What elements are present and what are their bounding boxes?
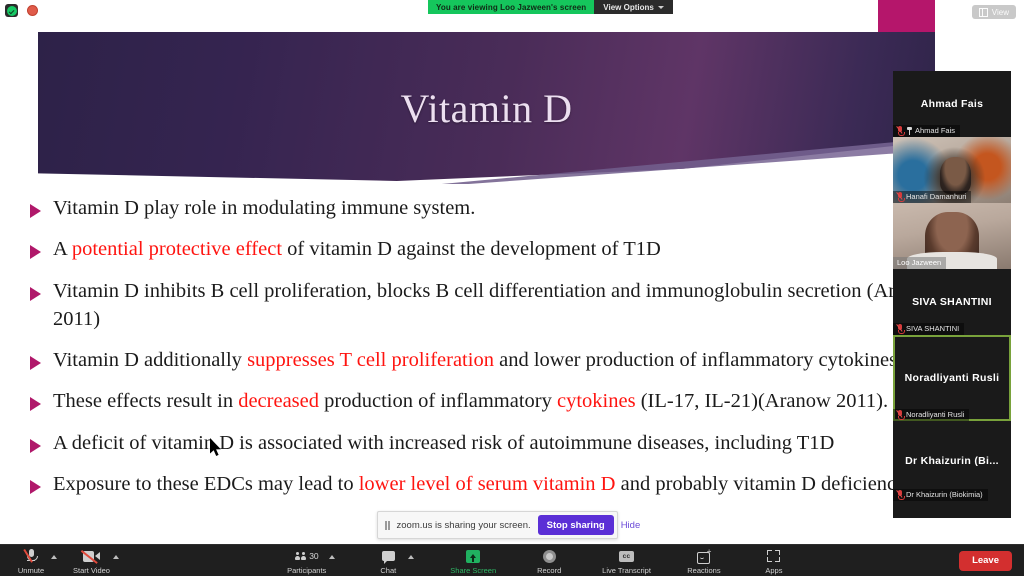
highlighted-phrase: lower level of serum vitamin D: [359, 473, 616, 495]
microphone-muted-icon: [897, 192, 903, 201]
start-video-label: Start Video: [73, 566, 110, 575]
plain-phrase: of vitamin D against the development of …: [282, 238, 661, 260]
toolbar-center-group: 30 Participants Chat Share Screen: [119, 546, 959, 575]
record-dot-icon: [27, 5, 38, 16]
chat-chevron-up-icon[interactable]: [408, 555, 414, 559]
list-item: Exposure to these EDCs may lead to lower…: [30, 470, 960, 498]
participant-label-text: Ahmad Fais: [915, 126, 955, 135]
live-transcript-button[interactable]: cc Live Transcript: [602, 546, 651, 575]
microphone-muted-icon: [897, 410, 903, 419]
participant-display-name: Noradliyanti Rusli: [899, 372, 1006, 384]
bullet-text: Exposure to these EDCs may lead to lower…: [53, 470, 958, 498]
list-item: Vitamin D play role in modulating immune…: [30, 194, 960, 222]
participant-display-name: Dr Khaizurin (Bi...: [899, 455, 1005, 467]
camera-muted-icon: [83, 549, 100, 563]
meeting-toolbar: Unmute Start Video 30: [0, 544, 1024, 576]
participants-button[interactable]: 30 Participants: [287, 546, 326, 575]
plain-phrase: and lower production of inflammatory cyt…: [494, 349, 897, 371]
participant-label-text: Noradliyanti Rusli: [906, 410, 964, 419]
apps-button[interactable]: Apps: [757, 546, 791, 575]
pause-icon: [385, 521, 390, 530]
hide-link[interactable]: Hide: [621, 520, 641, 531]
plain-phrase: These effects result in: [53, 390, 238, 412]
participants-count: 30: [309, 551, 318, 561]
people-icon: 30: [295, 549, 319, 563]
participant-name-label: Hanafi Damanhuri: [893, 191, 971, 204]
chevron-down-icon: [658, 6, 664, 9]
bullet-text: Vitamin D additionally suppresses T cell…: [53, 346, 897, 374]
list-item: These effects result in decreased produc…: [30, 387, 960, 415]
bullet-text: These effects result in decreased produc…: [53, 387, 958, 415]
participants-filmstrip[interactable]: Ahmad Fais Ahmad Fais Hanafi Damanhuri L…: [893, 71, 1011, 518]
start-video-button[interactable]: Start Video: [73, 546, 110, 575]
participants-chevron-up-icon[interactable]: [329, 555, 335, 559]
participants-label: Participants: [287, 566, 326, 575]
apps-icon: [767, 549, 780, 563]
chat-label: Chat: [380, 566, 396, 575]
microphone-muted-icon: [897, 324, 903, 333]
participant-name-label: Ahmad Fais: [893, 125, 960, 138]
view-options-button[interactable]: View Options: [594, 0, 673, 14]
unmute-label: Unmute: [18, 566, 44, 575]
unmute-button[interactable]: Unmute: [14, 546, 48, 575]
participant-label-text: Dr Khaizurin (Biokimia): [906, 490, 983, 499]
bullet-triangle-icon: [30, 245, 41, 259]
share-bar-text: zoom.us is sharing your screen.: [397, 520, 531, 531]
slide-bullet-list: Vitamin D play role in modulating immune…: [30, 194, 960, 511]
participant-tile-hanafi-damanhuri[interactable]: Hanafi Damanhuri: [893, 137, 1011, 203]
microphone-muted-icon: [897, 126, 903, 135]
participant-label-text: Loo Jazween: [897, 258, 941, 267]
participant-tile-loo-jazween[interactable]: Loo Jazween: [893, 203, 1011, 269]
participants-control-group: 30 Participants: [287, 546, 335, 575]
view-button-label: View: [992, 8, 1009, 17]
share-screen-button[interactable]: Share Screen: [450, 546, 496, 575]
reactions-label: Reactions: [687, 566, 720, 575]
window-status-icons: [5, 4, 38, 17]
reactions-icon: +: [697, 549, 710, 563]
highlighted-phrase: decreased: [238, 390, 319, 412]
grid-view-icon: [979, 8, 988, 17]
viewing-screen-banner: You are viewing Loo Jazween's screen Vie…: [428, 0, 673, 14]
participant-tile-dr-khaizurin[interactable]: Dr Khaizurin (Bi... Dr Khaizurin (Biokim…: [893, 421, 1011, 501]
microphone-muted-icon: [26, 549, 36, 563]
slide-title: Vitamin D: [38, 32, 935, 184]
plain-phrase: and probably vitamin D deficiency.: [616, 473, 911, 495]
bullet-text: A potential protective effect of vitamin…: [53, 235, 661, 263]
bullet-triangle-icon: [30, 439, 41, 453]
shared-screen-content: Vitamin D Vitamin D play role in modulat…: [0, 0, 1024, 545]
plain-phrase: (IL-17, IL-21)(Aranow 2011).: [636, 390, 889, 412]
chat-button[interactable]: Chat: [371, 546, 405, 575]
view-layout-button[interactable]: View: [972, 5, 1016, 19]
microphone-muted-icon: [897, 490, 903, 499]
chat-bubble-icon: [382, 549, 395, 563]
apps-label: Apps: [765, 566, 782, 575]
screen-share-notification-bar: zoom.us is sharing your screen. Stop sha…: [377, 511, 618, 539]
plain-phrase: A deficit of vitamin D is associated wit…: [53, 432, 834, 454]
list-item: A deficit of vitamin D is associated wit…: [30, 429, 960, 457]
bullet-text: A deficit of vitamin D is associated wit…: [53, 429, 834, 457]
live-transcript-label: Live Transcript: [602, 566, 651, 575]
plain-phrase: Vitamin D play role in modulating immune…: [53, 197, 475, 219]
mic-control-group: Unmute: [14, 546, 57, 575]
zoom-meeting-window: Vitamin D Vitamin D play role in modulat…: [0, 0, 1024, 576]
bullet-triangle-icon: [30, 397, 41, 411]
viewing-screen-text: You are viewing Loo Jazween's screen: [428, 0, 594, 14]
chat-control-group: Chat: [371, 546, 414, 575]
participant-tile-noradliyanti-rusli[interactable]: Noradliyanti Rusli Noradliyanti Rusli: [893, 335, 1011, 421]
bullet-text: Vitamin D play role in modulating immune…: [53, 194, 475, 222]
record-circle-icon: [543, 549, 556, 563]
participant-label-text: SIVA SHANTINI: [906, 324, 959, 333]
shield-check-icon: [5, 4, 18, 17]
participant-tile-siva-shantini[interactable]: SIVA SHANTINI SIVA SHANTINI: [893, 269, 1011, 335]
plain-phrase: Vitamin D additionally: [53, 349, 247, 371]
plain-phrase: Vitamin D inhibits B cell proliferation,…: [53, 280, 940, 330]
list-item: Vitamin D inhibits B cell proliferation,…: [30, 277, 960, 334]
participant-label-text: Hanafi Damanhuri: [906, 192, 966, 201]
toolbar-right-group: Leave: [959, 551, 1024, 571]
closed-caption-icon: cc: [619, 549, 634, 563]
stop-sharing-button[interactable]: Stop sharing: [538, 515, 614, 535]
cc-glyph: cc: [619, 551, 634, 562]
mouse-cursor: [210, 438, 223, 457]
participant-video-figure: [940, 157, 971, 194]
participant-tile-ahmad-fais[interactable]: Ahmad Fais Ahmad Fais: [893, 71, 1011, 137]
bullet-triangle-icon: [30, 287, 41, 301]
record-label: Record: [537, 566, 561, 575]
bullet-triangle-icon: [30, 480, 41, 494]
share-screen-icon: [466, 549, 480, 563]
list-item: A potential protective effect of vitamin…: [30, 235, 960, 263]
share-screen-label: Share Screen: [450, 566, 496, 575]
list-item: Vitamin D additionally suppresses T cell…: [30, 346, 960, 374]
participant-display-name: SIVA SHANTINI: [906, 296, 998, 308]
mic-options-chevron-up-icon[interactable]: [51, 555, 57, 559]
slide-title-banner: Vitamin D: [38, 32, 935, 184]
toolbar-left-group: Unmute Start Video: [0, 546, 119, 575]
bullet-triangle-icon: [30, 204, 41, 218]
highlighted-phrase: suppresses T cell proliferation: [247, 349, 494, 371]
participant-display-name: Ahmad Fais: [915, 98, 990, 110]
participant-name-label: Dr Khaizurin (Biokimia): [893, 489, 988, 502]
highlighted-phrase: potential protective effect: [72, 238, 282, 260]
plain-phrase: Exposure to these EDCs may lead to: [53, 473, 359, 495]
bullet-triangle-icon: [30, 356, 41, 370]
leave-button[interactable]: Leave: [959, 551, 1012, 571]
video-control-group: Start Video: [73, 546, 119, 575]
record-button[interactable]: Record: [532, 546, 566, 575]
participant-name-label: Noradliyanti Rusli: [893, 409, 969, 422]
participant-name-label: SIVA SHANTINI: [893, 323, 964, 336]
view-options-label: View Options: [603, 3, 654, 12]
reactions-button[interactable]: + Reactions: [687, 546, 721, 575]
participant-name-label: Loo Jazween: [893, 257, 946, 270]
bullet-text: Vitamin D inhibits B cell proliferation,…: [53, 277, 958, 334]
plain-phrase: A: [53, 238, 72, 260]
highlighted-phrase: cytokines: [557, 390, 636, 412]
pin-icon: [906, 127, 912, 135]
plain-phrase: production of inflammatory: [319, 390, 557, 412]
